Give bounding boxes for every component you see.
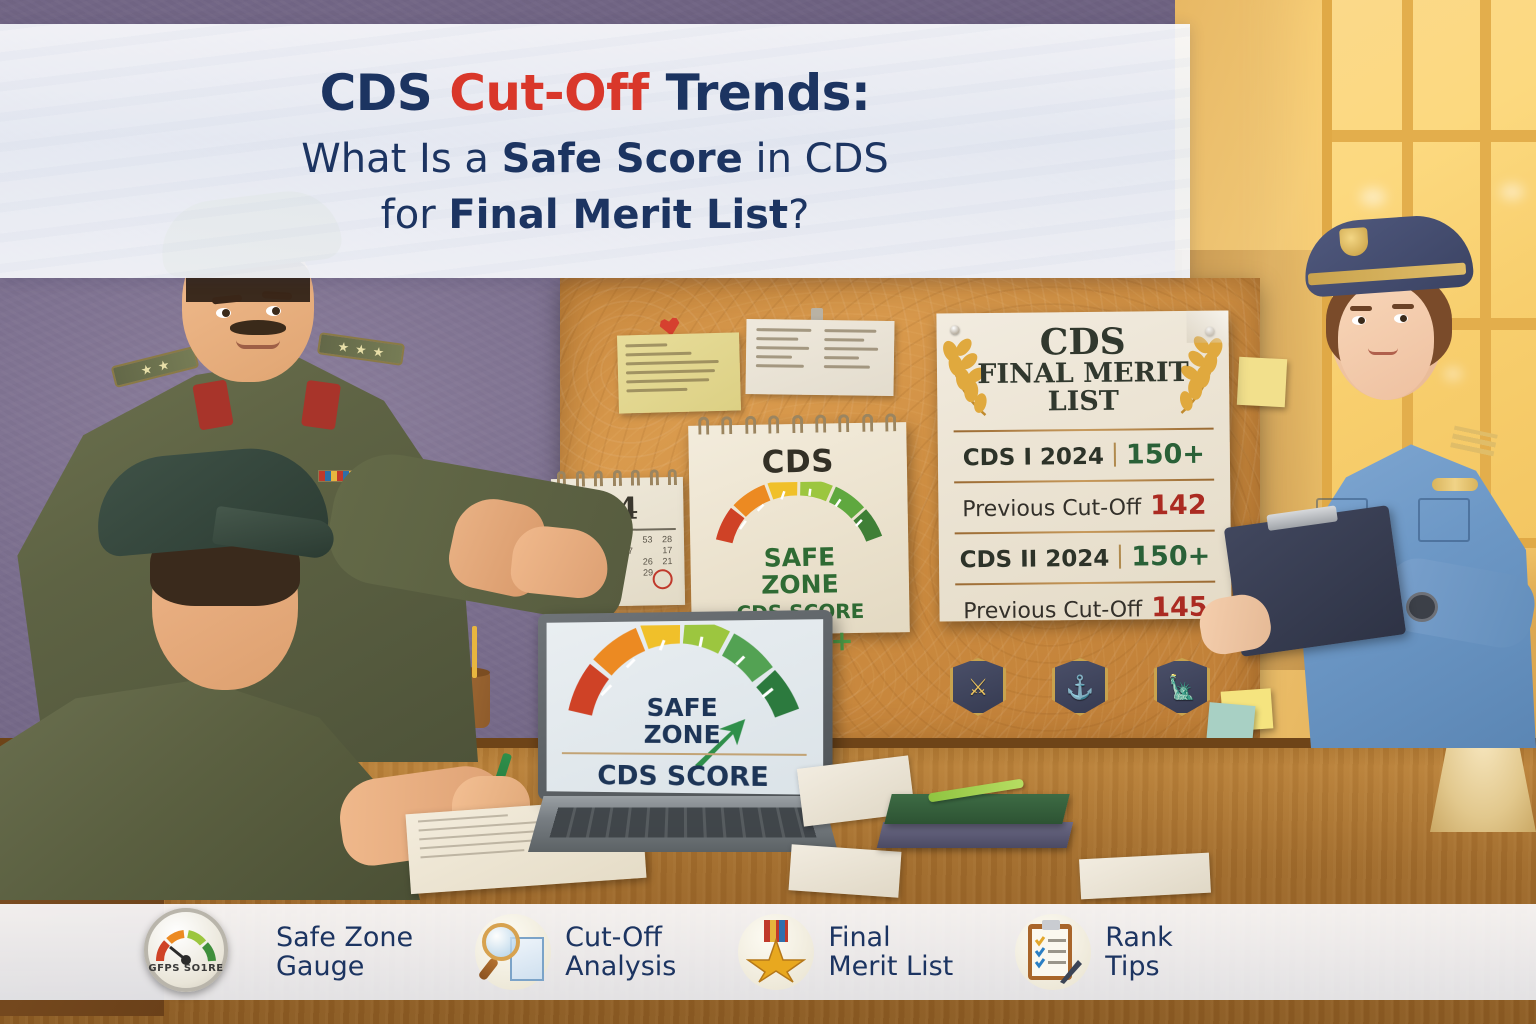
feature-label-line2: Gauge — [276, 952, 413, 981]
calendar-spiral — [557, 469, 677, 487]
desk-paper — [789, 844, 902, 898]
subtitle-part-safescore: Safe Score — [502, 136, 743, 182]
calendar-circled-date — [652, 569, 672, 589]
feature-label: Rank Tips — [1105, 923, 1172, 981]
title-part-cutoff: Cut-Off — [449, 64, 648, 122]
desk-paper — [1079, 853, 1211, 900]
notepad-heading: CDS — [689, 442, 908, 482]
title-part-cds: CDS — [320, 64, 450, 122]
divider — [954, 428, 1214, 433]
feature-label-line1: Cut-Off — [565, 923, 676, 952]
divider — [1114, 443, 1116, 467]
laptop-safe-label: SAFE — [547, 695, 824, 721]
title-part-trends: Trends: — [649, 64, 871, 122]
page-title-line2: What Is a Safe Score in CDS — [301, 136, 889, 182]
previous-cutoff-row: Previous Cut-Off 145 — [953, 592, 1217, 626]
pupil-right — [272, 307, 280, 315]
medal-star-icon — [738, 914, 814, 990]
laptop-keyboard[interactable] — [550, 808, 817, 838]
feature-label-line2: Tips — [1105, 952, 1172, 981]
airforce-emblem-icon: 🗽 — [1154, 658, 1210, 716]
feature-label-line1: Rank — [1105, 923, 1172, 952]
pinned-note-white — [745, 319, 894, 396]
safe-zone-notepad: CDS SAFE ZONE CDS SCORE + — [688, 422, 910, 636]
feature-label-line2: Merit List — [828, 952, 953, 981]
feature-label: Safe Zone Gauge — [276, 923, 413, 981]
pilot-wings-icon — [1432, 478, 1478, 491]
gauge-arc-icon — [709, 480, 888, 545]
title-banner: CDS Cut-Off Trends: What Is a Safe Score… — [0, 24, 1190, 278]
notepad-safe-label: SAFE — [690, 544, 908, 572]
wristwatch — [1406, 592, 1438, 622]
notepad-zone-label: ZONE — [691, 571, 909, 599]
pupil-right — [1400, 315, 1407, 322]
subtitle-part-a: What Is a — [301, 136, 501, 182]
sticky-note — [1207, 702, 1256, 742]
final-merit-list-poster: CDS FINAL MERIT LIST CDS I 2024 150+ Pre… — [936, 310, 1231, 621]
navy-emblem-icon: ⚓ — [1052, 658, 1108, 716]
eyebrow-left — [1350, 306, 1372, 311]
calendar-cell — [638, 545, 658, 555]
calendar-cell: 21 — [658, 556, 678, 566]
feature-item-rank-tips[interactable]: Rank Tips — [1015, 914, 1172, 990]
sticky-note — [1237, 357, 1287, 407]
pupil-left — [222, 309, 230, 317]
page-title-line1: CDS Cut-Off Trends: — [320, 64, 871, 122]
poster-title-line1: CDS — [951, 323, 1215, 362]
mouth — [1368, 348, 1398, 355]
uniform-pocket-right — [1418, 498, 1470, 542]
merit-row: CDS I 2024 150+ — [952, 439, 1216, 473]
divider — [954, 479, 1214, 484]
merit-row-value: 150+ — [1131, 541, 1210, 573]
poster-title-line2: FINAL MERIT — [951, 359, 1215, 389]
merit-row: CDS II 2024 150+ — [953, 541, 1217, 575]
calendar-cell: 26 — [638, 556, 658, 566]
feature-item-final-merit-list[interactable]: Final Merit List — [738, 914, 953, 990]
desk-book — [884, 794, 1069, 824]
laptop-lid: SAFE ZONE CDS SCORE +150+ — [538, 610, 833, 804]
feature-label-line1: Safe Zone — [276, 923, 413, 952]
calendar-cell: 17 — [657, 545, 677, 555]
laptop-screen[interactable]: SAFE ZONE CDS SCORE +150+ — [547, 619, 824, 795]
gorget-patch-right — [301, 380, 341, 430]
clipboard-checklist-icon — [1015, 914, 1091, 990]
divider — [955, 530, 1215, 535]
previous-cutoff-value: 142 — [1150, 490, 1207, 522]
merit-row-label: CDS I 2024 — [963, 444, 1104, 471]
pupil-left — [1358, 317, 1365, 324]
merit-row-label: CDS II 2024 — [960, 546, 1110, 574]
feature-label: Final Merit List — [828, 923, 953, 981]
desk-book — [877, 822, 1073, 848]
notepad-spiral — [698, 413, 896, 434]
previous-cutoff-row: Previous Cut-Off 142 — [952, 490, 1216, 524]
service-emblems: ⚔ ⚓ 🗽 — [950, 658, 1210, 716]
subtitle-part-q: ? — [788, 192, 809, 238]
laptop[interactable]: SAFE ZONE CDS SCORE +150+ — [528, 612, 838, 852]
poster-rows: CDS I 2024 150+ Previous Cut-Off 142 CDS… — [952, 428, 1218, 626]
page-title-line3: for Final Merit List? — [381, 192, 810, 238]
magnifier-document-icon — [475, 914, 551, 990]
divider — [562, 752, 807, 756]
moustache — [230, 320, 286, 335]
subtitle-part-for: for — [381, 192, 449, 238]
laptop-zone-label: ZONE — [547, 722, 824, 748]
previous-cutoff-label: Previous Cut-Off — [963, 597, 1142, 624]
previous-cutoff-label: Previous Cut-Off — [962, 495, 1141, 522]
poster-scene: 14 13485328101116271718201126212029 CDS — [0, 0, 1536, 1024]
eyebrow-right — [1392, 304, 1414, 309]
feature-label-line2: Analysis — [565, 952, 676, 981]
af-face — [1338, 284, 1434, 400]
feature-label: Cut-Off Analysis — [565, 923, 676, 981]
poster-heading: CDS FINAL MERIT LIST — [951, 323, 1216, 417]
pinned-note-yellow — [617, 332, 741, 413]
gauge-badge-text: GFPS SO1RE — [148, 963, 223, 974]
divider — [1119, 545, 1121, 569]
subtitle-part-c: in CDS — [743, 136, 889, 182]
feature-item-cut-off-analysis[interactable]: Cut-Off Analysis — [475, 914, 676, 990]
subtitle-part-finalmerit: Final Merit List — [448, 192, 788, 238]
calendar-cell: 53 — [638, 534, 658, 544]
mouth — [236, 340, 280, 349]
calendar-cell: 28 — [657, 534, 677, 544]
divider — [955, 581, 1215, 586]
army-emblem-icon: ⚔ — [950, 658, 1006, 716]
merit-row-value: 150+ — [1126, 439, 1205, 471]
gauge-badge-icon[interactable]: GFPS SO1RE — [144, 908, 228, 992]
feature-bar: Safe Zone Gauge Cut-Off Analysis — [0, 904, 1536, 1000]
poster-title-line3: LIST — [951, 386, 1215, 416]
feature-label-line1: Final — [828, 923, 953, 952]
